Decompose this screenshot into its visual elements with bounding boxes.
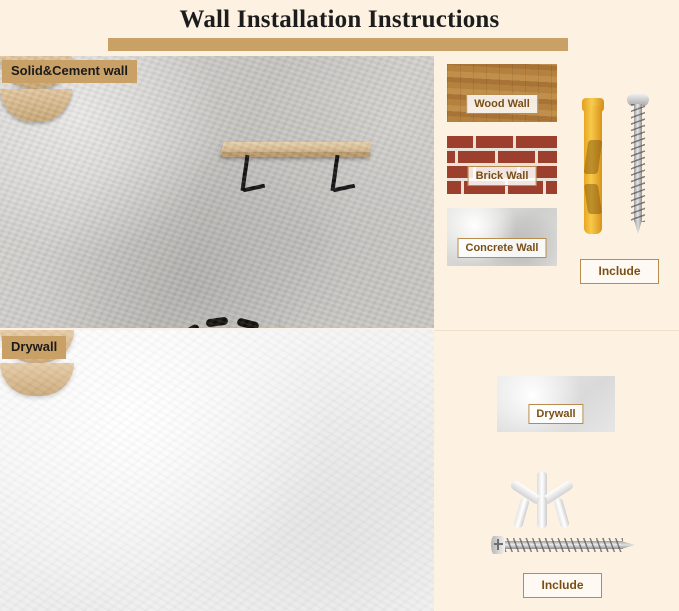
poster-root: Wall Installation Instructions Solid&Cem… xyxy=(0,0,679,611)
bridge-grip-2 xyxy=(206,317,229,328)
drywall-swatch: Drywall xyxy=(497,376,615,432)
solid-wall-tag: Solid&Cement wall xyxy=(2,60,137,83)
drywall-swatch-label: Drywall xyxy=(528,404,583,424)
drywall-half-round-step-lower xyxy=(0,363,74,396)
wood-wall-label: Wood Wall xyxy=(466,94,538,114)
title-underline-bar xyxy=(108,38,568,51)
bridge-grip-1 xyxy=(177,323,200,328)
half-round-step-lower xyxy=(0,89,72,122)
bridge-grip-3 xyxy=(236,317,259,328)
shelf-bracket-left xyxy=(241,155,250,191)
drywall-tag: Drywall xyxy=(2,336,66,359)
photo-solid-cement-wall xyxy=(0,56,434,328)
page-header: Wall Installation Instructions xyxy=(0,0,679,54)
include-label-top: Include xyxy=(580,259,659,284)
shelf-bracket-right-foot xyxy=(333,184,355,192)
brick-wall-swatch: Brick Wall xyxy=(447,136,557,194)
drywall-toggle-anchor-icon xyxy=(507,472,577,528)
curved-cat-bridge xyxy=(151,317,281,328)
wall-shelf-board xyxy=(220,142,372,155)
shelf-bracket-right xyxy=(331,155,340,191)
wall-shelf-edge xyxy=(221,152,370,157)
include-label-bottom: Include xyxy=(523,573,602,598)
shelf-bracket-left-foot xyxy=(243,184,265,192)
drywall-screw-icon xyxy=(489,534,637,556)
wood-screw-icon xyxy=(627,92,649,242)
concrete-wall-label: Concrete Wall xyxy=(458,238,547,258)
wood-wall-swatch: Wood Wall xyxy=(447,64,557,122)
curved-cat-bridge-edge xyxy=(151,326,280,328)
page-title: Wall Installation Instructions xyxy=(0,6,679,34)
plastic-wall-anchor-icon xyxy=(582,92,604,240)
concrete-wall-swatch: Concrete Wall xyxy=(447,208,557,266)
photo-drywall xyxy=(0,330,434,611)
right-column-divider xyxy=(434,330,679,331)
brick-wall-label: Brick Wall xyxy=(468,166,537,186)
